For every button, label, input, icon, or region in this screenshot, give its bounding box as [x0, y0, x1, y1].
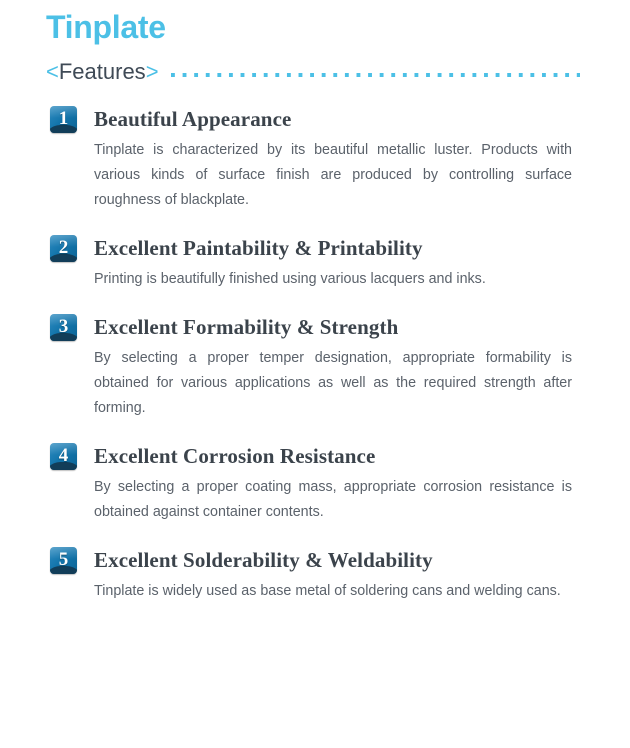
- number-badge-label-3: 3: [59, 317, 69, 336]
- feature-body-5: Tinplate is widely used as base metal of…: [94, 579, 572, 604]
- feature-heading-row-4: 4 Excellent Corrosion Resistance: [50, 441, 630, 471]
- dotted-rule-divider: [171, 73, 580, 77]
- feature-title-4: Excellent Corrosion Resistance: [94, 443, 375, 469]
- feature-title-2: Excellent Paintability & Printability: [94, 235, 423, 261]
- features-label: <Features>: [46, 59, 159, 85]
- feature-item-3: 3 Excellent Formability & Strength By se…: [0, 312, 630, 421]
- feature-body-4: By selecting a proper coating mass, appr…: [94, 475, 572, 525]
- feature-item-4: 4 Excellent Corrosion Resistance By sele…: [0, 441, 630, 525]
- number-badge-label-2: 2: [59, 238, 69, 257]
- number-badge-label-1: 1: [59, 109, 69, 128]
- features-section-header: <Features>: [46, 58, 580, 86]
- angle-bracket-open-icon: <: [46, 59, 59, 84]
- feature-title-3: Excellent Formability & Strength: [94, 314, 398, 340]
- feature-title-5: Excellent Solderability & Weldability: [94, 547, 433, 573]
- feature-item-5: 5 Excellent Solderability & Weldability …: [0, 545, 630, 604]
- feature-item-1: 1 Beautiful Appearance Tinplate is chara…: [0, 104, 630, 213]
- feature-body-2: Printing is beautifully finished using v…: [94, 267, 572, 292]
- features-label-text: Features: [59, 59, 146, 84]
- feature-title-1: Beautiful Appearance: [94, 106, 291, 132]
- number-badge-icon-1: 1: [50, 106, 77, 133]
- feature-item-2: 2 Excellent Paintability & Printability …: [0, 233, 630, 292]
- feature-heading-row-5: 5 Excellent Solderability & Weldability: [50, 545, 630, 575]
- feature-list: 1 Beautiful Appearance Tinplate is chara…: [0, 104, 630, 604]
- feature-body-3: By selecting a proper temper designation…: [94, 346, 572, 421]
- number-badge-label-4: 4: [59, 446, 69, 465]
- feature-heading-row-2: 2 Excellent Paintability & Printability: [50, 233, 630, 263]
- tinplate-features-page: Tinplate <Features> 1 Beautiful Appearan…: [0, 0, 630, 748]
- number-badge-icon-4: 4: [50, 443, 77, 470]
- feature-body-1: Tinplate is characterized by its beautif…: [94, 138, 572, 213]
- number-badge-icon-3: 3: [50, 314, 77, 341]
- number-badge-label-5: 5: [59, 550, 69, 569]
- page-title: Tinplate: [46, 8, 166, 46]
- feature-heading-row-3: 3 Excellent Formability & Strength: [50, 312, 630, 342]
- angle-bracket-close-icon: >: [146, 59, 159, 84]
- number-badge-icon-5: 5: [50, 547, 77, 574]
- feature-heading-row-1: 1 Beautiful Appearance: [50, 104, 630, 134]
- number-badge-icon-2: 2: [50, 235, 77, 262]
